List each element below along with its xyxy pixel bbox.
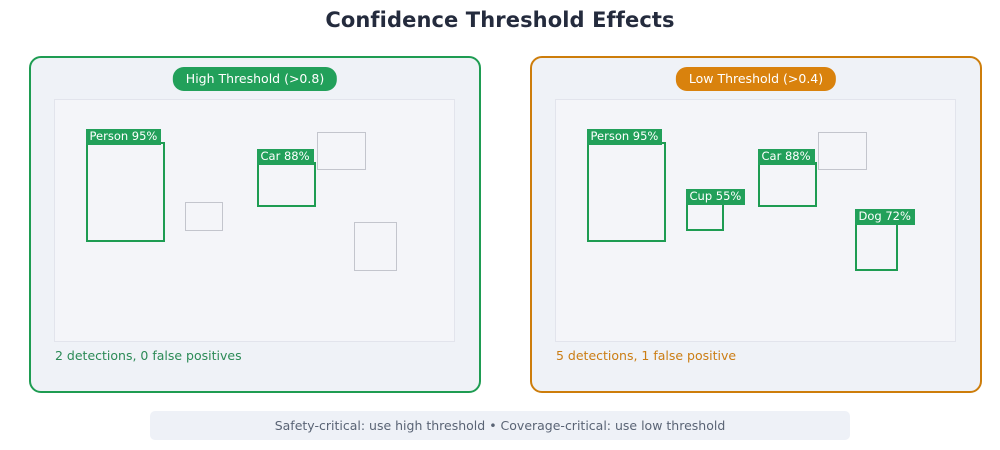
detection-box: Person 95%	[86, 142, 165, 242]
detection-label: Car 88%	[257, 149, 314, 165]
undetected-object-box	[317, 132, 366, 170]
threshold-badge: High Threshold (>0.8)	[173, 67, 337, 91]
detection-box: Dog 72%	[855, 222, 898, 271]
undetected-object-box	[185, 202, 223, 231]
confidence-threshold-figure: { "title": "Confidence Threshold Effects…	[0, 0, 1000, 450]
undetected-object-box	[354, 222, 397, 271]
detection-label: Cup 55%	[686, 189, 746, 205]
detection-label: Person 95%	[587, 129, 663, 145]
panel-high-threshold: High Threshold (>0.8)Person 95%Car 88%2 …	[29, 56, 481, 393]
detection-box: Car 88%	[257, 162, 316, 207]
threshold-badge: Low Threshold (>0.4)	[676, 67, 836, 91]
detection-canvas: Person 95%Car 88%	[54, 99, 455, 342]
detection-summary: 5 detections, 1 false positive	[556, 348, 736, 363]
detection-summary: 2 detections, 0 false positives	[55, 348, 242, 363]
detection-label: Dog 72%	[855, 209, 915, 225]
advice-banner: Safety-critical: use high threshold • Co…	[150, 411, 850, 440]
detection-label: Car 88%	[758, 149, 815, 165]
undetected-object-box	[818, 132, 867, 170]
detection-box: Cup 55%	[686, 202, 724, 231]
detection-box: Car 88%	[758, 162, 817, 207]
panel-low-threshold: Low Threshold (>0.4)Person 95%Cup 55%Car…	[530, 56, 982, 393]
page-title: Confidence Threshold Effects	[0, 8, 1000, 32]
detection-canvas: Person 95%Cup 55%Car 88%Dog 72%	[555, 99, 956, 342]
detection-box: Person 95%	[587, 142, 666, 242]
advice-text: Safety-critical: use high threshold • Co…	[275, 418, 726, 433]
detection-label: Person 95%	[86, 129, 162, 145]
